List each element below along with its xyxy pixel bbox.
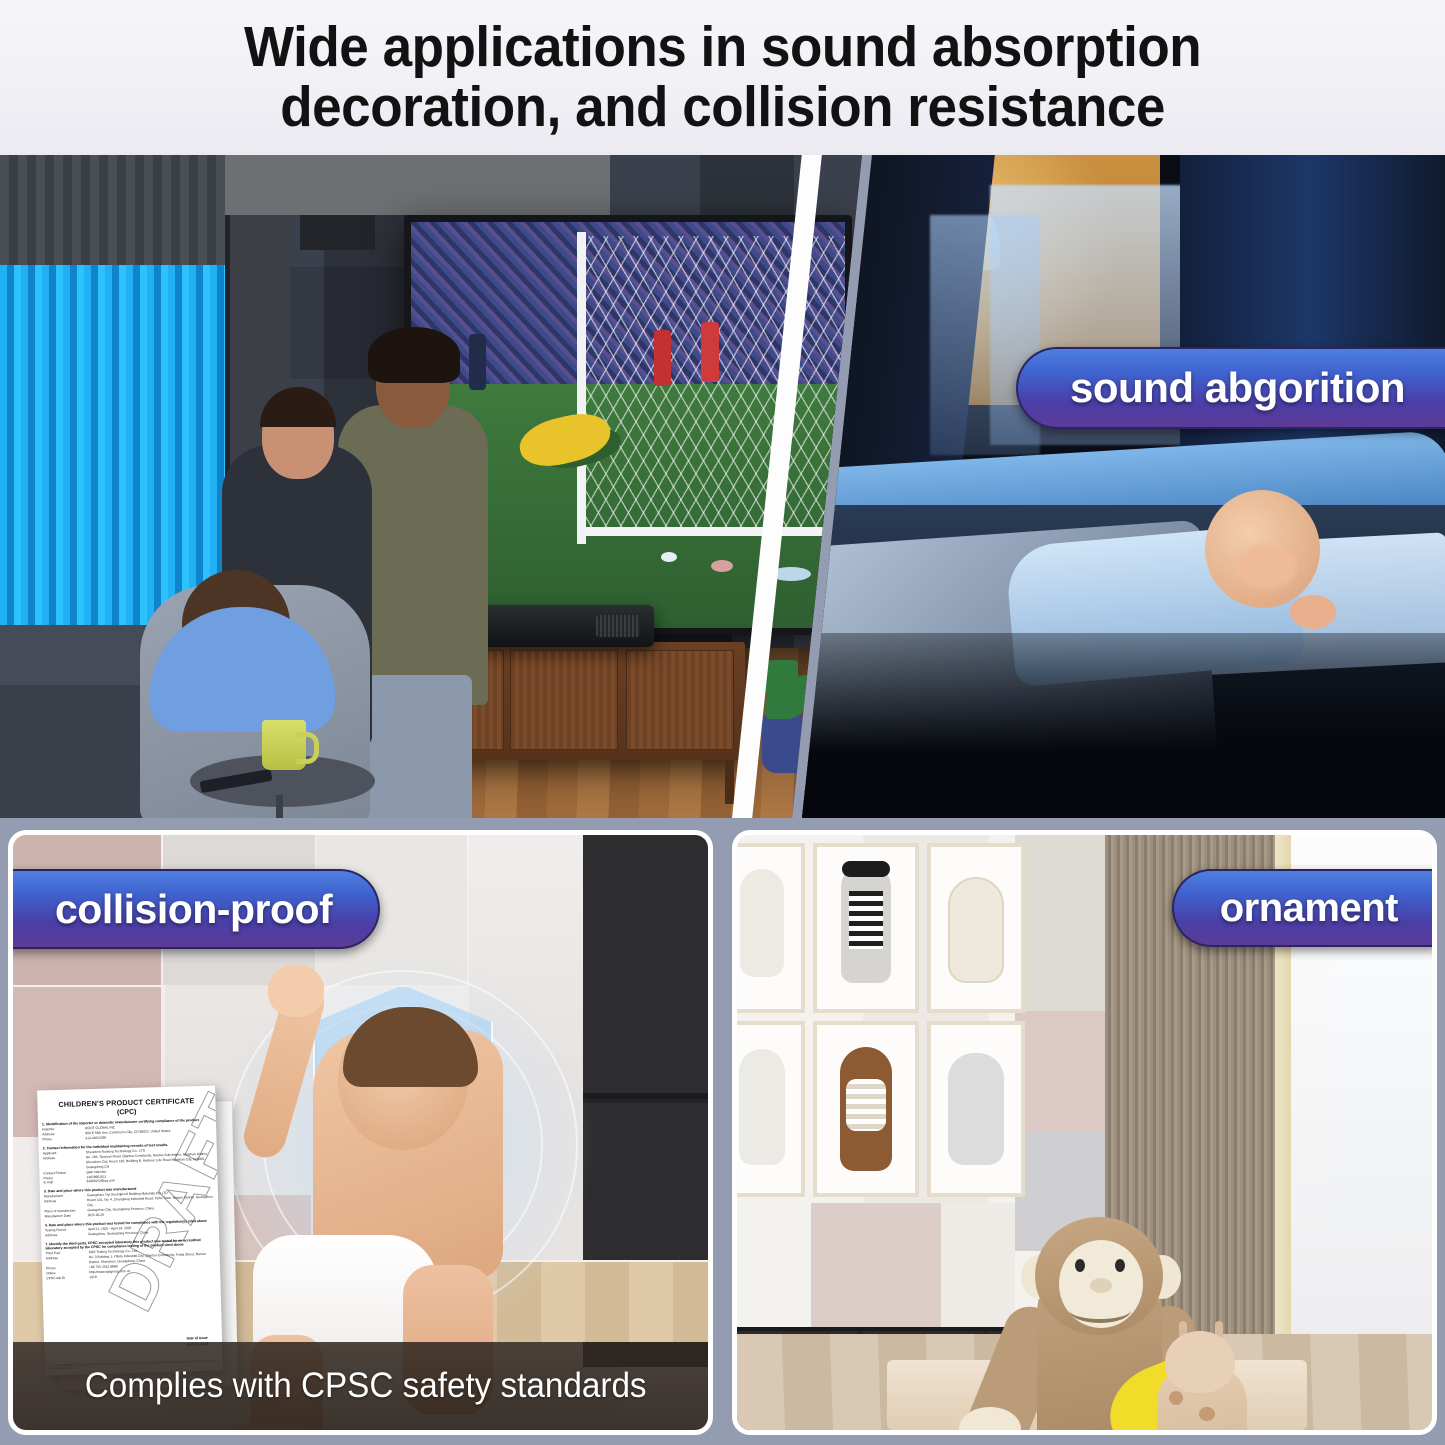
coffee-table-leg [276, 795, 283, 818]
fox-poster [732, 1021, 805, 1197]
console-leg [725, 760, 734, 804]
panel-ornament: ornament [732, 830, 1437, 1435]
owl-eyes [956, 891, 996, 905]
monkey-nose [1090, 1278, 1112, 1293]
fox-figure [739, 1049, 785, 1165]
pitch-debris [711, 560, 733, 572]
baby-cheek [1235, 545, 1297, 589]
rabbit-figure [740, 869, 784, 977]
wall-panel-seam [737, 1327, 1037, 1331]
wall-tile [1015, 1011, 1119, 1131]
badge-collision-proof[interactable]: collision-proof [8, 869, 380, 949]
panel-grid: sound abgorition [0, 155, 1445, 1445]
vignette-shadow [720, 633, 1445, 818]
elephant-figure [948, 1053, 1004, 1165]
person-hair [368, 327, 460, 383]
bottom-row: CHILDREN'S PRODUCT CERTIFICATE (CPC) 1. … [0, 818, 1445, 1445]
caption-bar: Complies with CPSC safety standards [13, 1342, 713, 1430]
pitch-debris [661, 552, 677, 562]
monkey-smile [1069, 1297, 1131, 1323]
page-title-line-1: Wide applications in sound absorption [244, 18, 1201, 78]
player-dark [469, 334, 486, 390]
badge-label: ornament [1220, 886, 1398, 931]
top-row: sound abgorition [0, 155, 1445, 818]
raccoon-poster [813, 843, 919, 1013]
field-key: Manufacture Date [45, 1213, 85, 1219]
mug [262, 720, 306, 770]
bear-poster [813, 1021, 919, 1197]
monkey-foot [1109, 1431, 1181, 1435]
monkey-foot [1035, 1431, 1107, 1435]
badge-label: collision-proof [55, 886, 332, 933]
baby-hand [1290, 595, 1336, 629]
monkey-eye [1115, 1259, 1125, 1272]
bear-sweater [846, 1079, 886, 1131]
field-key: Address [45, 1232, 85, 1238]
page-title-line-2: decoration, and collision resistance [244, 78, 1201, 138]
badge-sound-absorption[interactable]: sound abgorition [1016, 347, 1445, 429]
player-red [701, 322, 719, 382]
field-key: Phone [42, 1136, 82, 1142]
badge-label: sound abgorition [1070, 364, 1405, 412]
wall-tile [1015, 835, 1119, 1011]
giraffe-head [1165, 1331, 1235, 1393]
pitch-debris [771, 567, 811, 581]
plant-leaf [766, 685, 806, 719]
cpc-certificate: CHILDREN'S PRODUCT CERTIFICATE (CPC) 1. … [37, 1086, 223, 1376]
wall-tile [811, 1203, 941, 1343]
raccoon-mask [842, 861, 890, 877]
field-key: Address [43, 1155, 83, 1171]
owl-poster [927, 843, 1025, 1013]
goal-crossbar [577, 527, 852, 536]
giraffe-spot [1169, 1391, 1183, 1405]
console-door [510, 650, 618, 750]
toddler-hand [268, 965, 324, 1017]
wall-tile [941, 1203, 1015, 1343]
canopy-sheer-fabric [930, 215, 1040, 455]
header-banner: Wide applications in sound absorption de… [0, 0, 1445, 155]
goal-net [581, 236, 852, 536]
badge-ornament[interactable]: ornament [1172, 869, 1437, 947]
player-red [654, 330, 671, 386]
window [1329, 931, 1437, 1231]
page-title: Wide applications in sound absorption de… [244, 18, 1201, 138]
console-door [626, 650, 734, 750]
cpsc-caption: Complies with CPSC safety standards [85, 1366, 647, 1406]
raccoon-stripes [849, 891, 883, 949]
giraffe-spot [1177, 1431, 1191, 1435]
panel-collision-proof: CHILDREN'S PRODUCT CERTIFICATE (CPC) 1. … [8, 830, 713, 1435]
elephant-poster [927, 1021, 1025, 1197]
curtain-rail [0, 155, 225, 265]
field-key: E-mail [44, 1180, 84, 1186]
giraffe-spot [1199, 1407, 1215, 1421]
monkey-eye [1075, 1259, 1085, 1272]
rabbit-poster [732, 843, 805, 1013]
goal-post [577, 232, 586, 544]
field-key: CPSC lab ID [46, 1275, 86, 1281]
